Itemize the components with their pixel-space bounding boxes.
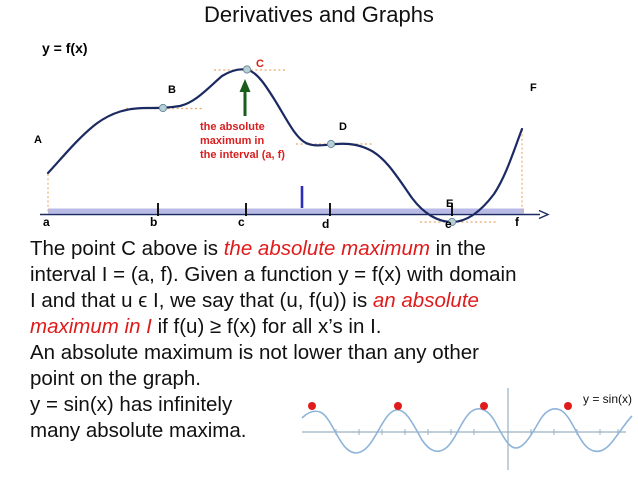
point-label-b: B xyxy=(168,84,176,96)
point-label-e: E xyxy=(446,198,453,210)
point-marker-c xyxy=(243,66,250,73)
point-marker-d xyxy=(327,140,334,147)
plain-text: if f(u) ≥ f(x) for all x’s in I. xyxy=(152,315,382,338)
plain-text: An absolute maximum is not lower than an… xyxy=(30,341,479,364)
sine-maximum-dot-4 xyxy=(564,402,572,410)
sine-inset-figure: y = sin(x) xyxy=(296,386,636,472)
point-label-f: F xyxy=(530,82,537,94)
function-label: y = f(x) xyxy=(42,40,88,56)
sine-curve xyxy=(302,409,632,453)
axis-tick-label-b: b xyxy=(150,215,157,229)
axis-tick-label-d: d xyxy=(322,217,329,231)
point-label-c: C xyxy=(256,58,264,70)
derivative-graph-svg xyxy=(0,26,638,231)
emphasis-text: an absolute xyxy=(373,289,479,312)
green-arrow-to-maximum xyxy=(240,79,251,116)
point-marker-b xyxy=(159,104,166,111)
sine-maximum-dot-3 xyxy=(480,402,488,410)
emphasis-text: maximum in I xyxy=(30,315,152,338)
plain-text: many absolute maxima. xyxy=(30,419,246,442)
plain-text: interval I = (a, f). Given a function y … xyxy=(30,263,517,286)
absolute-maximum-annotation: the absolute maximum in the interval (a,… xyxy=(200,120,285,162)
axis-tick-label-c: c xyxy=(238,215,245,229)
sine-maximum-dot-2 xyxy=(394,402,402,410)
slide-canvas: Derivatives and Graphs xyxy=(0,0,638,478)
axis-tick-label-f: f xyxy=(515,215,519,229)
sine-inset-caption: y = sin(x) xyxy=(583,392,632,406)
derivative-graph-figure: y = f(x) A B C D E F the absolute maximu… xyxy=(0,26,638,231)
plain-text: in the xyxy=(430,237,486,260)
body-line: An absolute maximum is not lower than an… xyxy=(30,340,630,366)
x-axis-arrowhead xyxy=(539,211,548,219)
plain-text: The point C above is xyxy=(30,237,224,260)
axis-tick-label-e: e xyxy=(445,217,452,231)
body-line: I and that u ϵ I, we say that (u, f(u)) … xyxy=(30,288,630,314)
axis-tick-label-a: a xyxy=(43,215,50,229)
emphasis-text: the absolute maximum xyxy=(224,237,430,260)
body-line: The point C above is the absolute maximu… xyxy=(30,236,630,262)
sine-maximum-dot-1 xyxy=(308,402,316,410)
body-line: interval I = (a, f). Given a function y … xyxy=(30,262,630,288)
page-title: Derivatives and Graphs xyxy=(0,2,638,28)
plain-text: y = sin(x) has infinitely xyxy=(30,393,232,416)
body-line: maximum in I if f(u) ≥ f(x) for all x’s … xyxy=(30,314,630,340)
point-label-a: A xyxy=(34,134,42,146)
plain-text: point on the graph. xyxy=(30,367,201,390)
plain-text: I and that u ϵ I, we say that (u, f(u)) … xyxy=(30,289,373,312)
point-label-d: D xyxy=(339,121,347,133)
